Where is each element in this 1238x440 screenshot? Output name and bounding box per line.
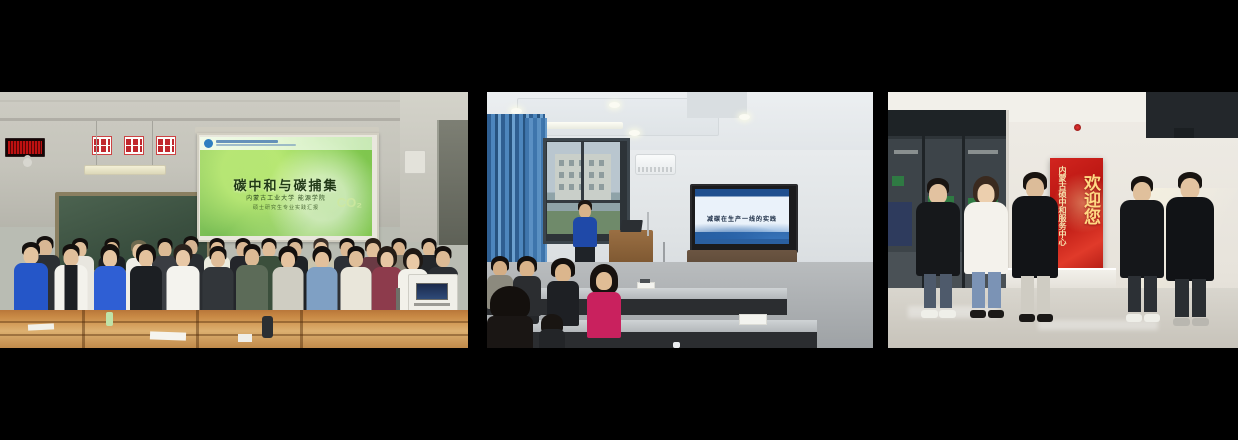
slide-title: 碳中和与碳捕集 [200, 175, 372, 194]
mic-stand [647, 212, 649, 236]
wall-sign-wenming-hexie [124, 136, 144, 155]
remote-control [640, 279, 650, 283]
person [916, 178, 960, 314]
photo-panel-seminar-room: 减碳在生产一线的实践 [487, 92, 873, 348]
ac-vent-icon [638, 167, 673, 172]
wall-control-box [404, 150, 426, 174]
photo-panel-classroom-group: 碳中和与碳捕集 内蒙古工业大学 能源学院 硕士研究生专业实践汇报 CO₂ [0, 92, 468, 348]
desk-divider [196, 310, 199, 348]
desk-divider [300, 310, 303, 348]
led-display-board [5, 138, 45, 157]
downlight-icon [629, 130, 640, 136]
person [964, 176, 1008, 314]
handout-paper [637, 282, 655, 289]
classroom-desks [0, 310, 468, 348]
downlight-icon [609, 102, 620, 108]
slide-header-line-en [216, 144, 296, 146]
wall-sign-fuqiang-minzhu [92, 136, 112, 155]
lamp-wire [96, 121, 97, 166]
audience-member [487, 286, 533, 348]
audience-member [539, 314, 565, 348]
person [1012, 172, 1058, 318]
paper-stack [28, 323, 54, 330]
thermos-bottle [262, 316, 273, 338]
paper-stack [150, 331, 186, 340]
presenter [573, 200, 597, 262]
table-front-panel [487, 332, 817, 348]
air-conditioner [635, 154, 676, 175]
tv-slide-title: 减碳在生产一线的实践 [695, 214, 789, 223]
ceiling-beam [0, 118, 468, 121]
ceiling-camera-icon [23, 158, 32, 167]
interior-green-sign [892, 176, 904, 186]
water-bottle [106, 312, 113, 326]
photo-strip-composite: 碳中和与碳捕集 内蒙古工业大学 能源学院 硕士研究生专业实践汇报 CO₂ [0, 0, 1238, 440]
wall-mounted-tv-screen: 减碳在生产一线的实践 [695, 189, 789, 244]
instrument-label [414, 303, 450, 306]
laptop [620, 220, 643, 232]
led-display-text [8, 141, 42, 154]
ceiling-soffit [687, 92, 747, 118]
interior-light [894, 150, 918, 154]
interior-light [968, 150, 998, 154]
slide-header-line-cn [216, 140, 278, 143]
downlight-icon [739, 114, 750, 120]
desk-divider [82, 310, 85, 348]
fluorescent-lamp [84, 165, 166, 175]
interior-blue-cabinet [888, 202, 912, 246]
glass-transom [888, 110, 1006, 136]
fire-alarm-light-icon [1074, 124, 1081, 131]
instrument-display-screen [416, 283, 448, 300]
person [1166, 172, 1214, 322]
photo-panel-lobby-group: 内蒙古硕中和服务中心 欢迎您 [888, 92, 1238, 348]
tissue-pack [238, 334, 252, 342]
university-logo-icon [204, 139, 213, 148]
water-bottle [673, 342, 680, 348]
ceiling-trim [0, 100, 468, 102]
handout-paper [739, 314, 767, 325]
slide-header-band [200, 137, 372, 150]
person [1120, 176, 1164, 318]
wall-sign-ziyou-pingdeng [156, 136, 176, 155]
ceiling-vent [1174, 128, 1194, 138]
lamp-wire [152, 121, 153, 166]
audience-member [587, 264, 621, 336]
banner-welcome-text: 欢迎您 [1074, 174, 1100, 225]
